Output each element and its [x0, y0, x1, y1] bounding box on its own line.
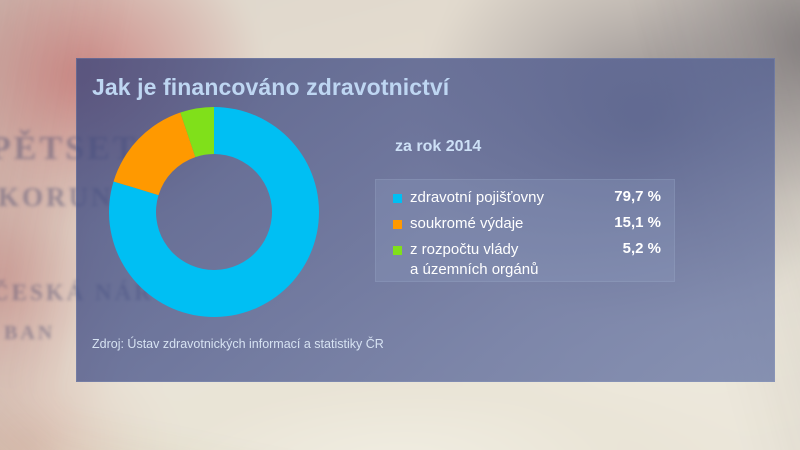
legend-label-0: zdravotní pojišťovny	[410, 188, 614, 208]
donut-slice-1[interactable]	[114, 113, 196, 196]
legend-label-2: z rozpočtu vlády a územních orgánů	[410, 240, 623, 280]
legend-label-text-1: soukromé výdaje	[410, 215, 523, 232]
legend-swatch-icon-2	[393, 246, 402, 255]
legend-item-zdravotni-pojistovny[interactable]: zdravotní pojišťovny 79,7 %	[393, 188, 661, 210]
legend-label-1: soukromé výdaje	[410, 214, 614, 234]
legend-item-z-rozpoctu-vlady[interactable]: z rozpočtu vlády a územních orgánů 5,2 %	[393, 240, 661, 262]
donut-chart	[109, 107, 319, 317]
page-title: Jak je financováno zdravotnictví	[92, 74, 449, 101]
banknote-text-line-4: BAN	[4, 322, 55, 345]
legend-value-2: 5,2 %	[623, 240, 661, 257]
legend: zdravotní pojišťovny 79,7 % soukromé výd…	[375, 179, 675, 282]
legend-item-soukrome-vydaje[interactable]: soukromé výdaje 15,1 %	[393, 214, 661, 236]
legend-label-text-0: zdravotní pojišťovny	[410, 189, 544, 206]
legend-label-text-2-cont: a územních orgánů	[410, 260, 623, 280]
donut-chart-svg	[109, 107, 319, 317]
legend-swatch-icon-0	[393, 194, 402, 203]
legend-value-0: 79,7 %	[614, 188, 661, 205]
source-note: Zdroj: Ústav zdravotnických informací a …	[92, 337, 384, 351]
legend-label-text-2: z rozpočtu vlády	[410, 241, 518, 258]
chart-subtitle: za rok 2014	[395, 138, 481, 156]
infographic-screen: PĚTSET KORUN ČESKÁ NÁR BAN Jak je financ…	[0, 0, 800, 450]
legend-swatch-icon-1	[393, 220, 402, 229]
legend-value-1: 15,1 %	[614, 214, 661, 231]
